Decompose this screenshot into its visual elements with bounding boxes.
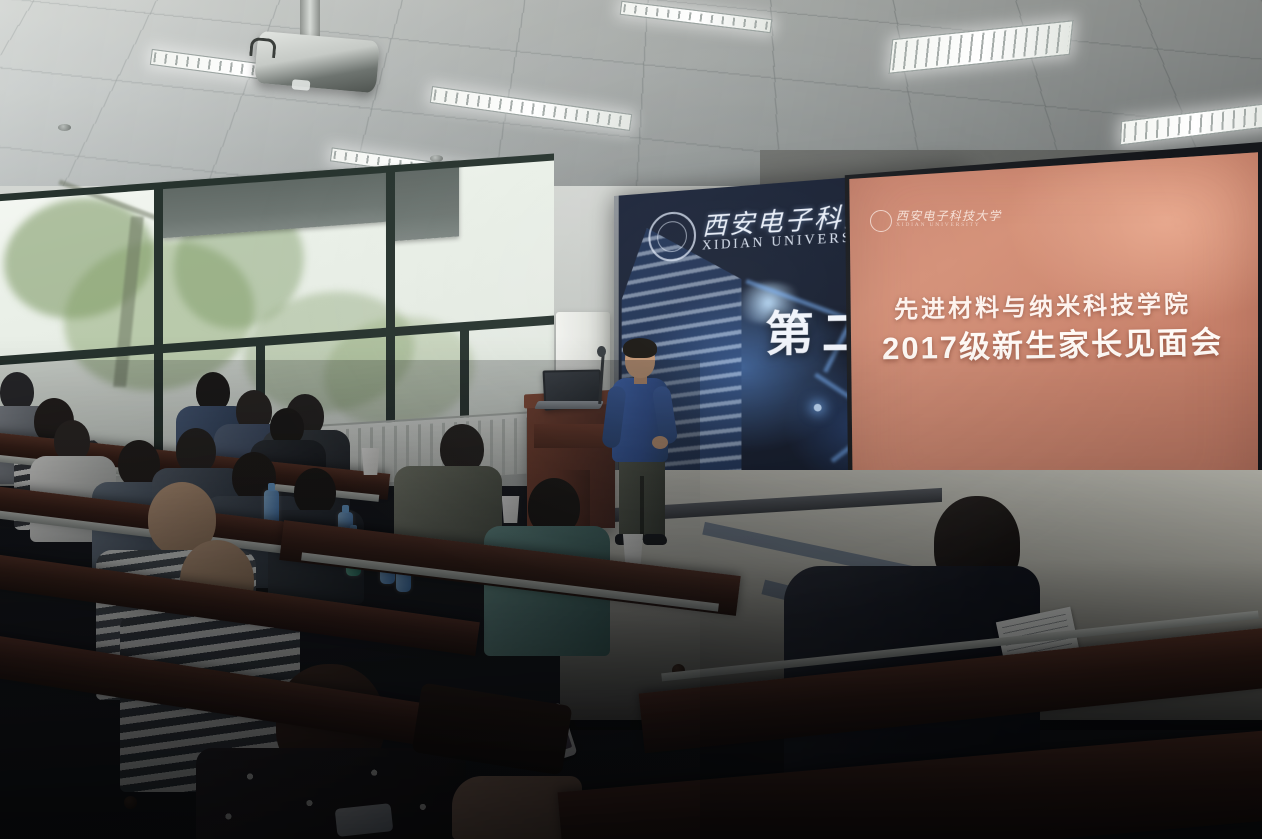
- smartphone-icon[interactable]: [335, 803, 394, 837]
- laptop-keyboard[interactable]: [534, 401, 604, 409]
- paper-cup[interactable]: [500, 496, 521, 523]
- window-mullion: [154, 184, 163, 473]
- podium-front-panel: [534, 424, 604, 448]
- slide-logo-en: XIDIAN UNIVERSITY: [896, 222, 981, 228]
- slide-title: 2017级新生家长见面会: [882, 317, 1224, 369]
- projector-lens: [292, 79, 311, 91]
- seat-knob: [124, 796, 137, 809]
- projector-handle: [249, 37, 277, 58]
- microphone-icon: [597, 346, 606, 357]
- slide-university-logo: 西安电子科技大学 XIDIAN UNIVERSITY: [870, 208, 1020, 236]
- smoke-detector-icon: [58, 124, 71, 131]
- presenter-hand: [652, 436, 668, 449]
- window-roller-blind[interactable]: [389, 160, 459, 241]
- banner-molecule-node: [814, 404, 822, 412]
- attendee-head: [294, 468, 336, 516]
- presenter-hair: [623, 338, 657, 358]
- presenter-leg-split: [640, 476, 644, 540]
- attendee-body: [196, 748, 466, 839]
- university-seal-icon: [870, 210, 892, 232]
- window-mullion: [386, 167, 395, 456]
- university-seal-icon: [648, 210, 696, 262]
- presenter-shoe: [643, 534, 667, 545]
- lecture-hall-photo: 西安电子科技大学 XIDIAN UNIVERSITY 第二届 西安电子科技大学 …: [0, 0, 1262, 839]
